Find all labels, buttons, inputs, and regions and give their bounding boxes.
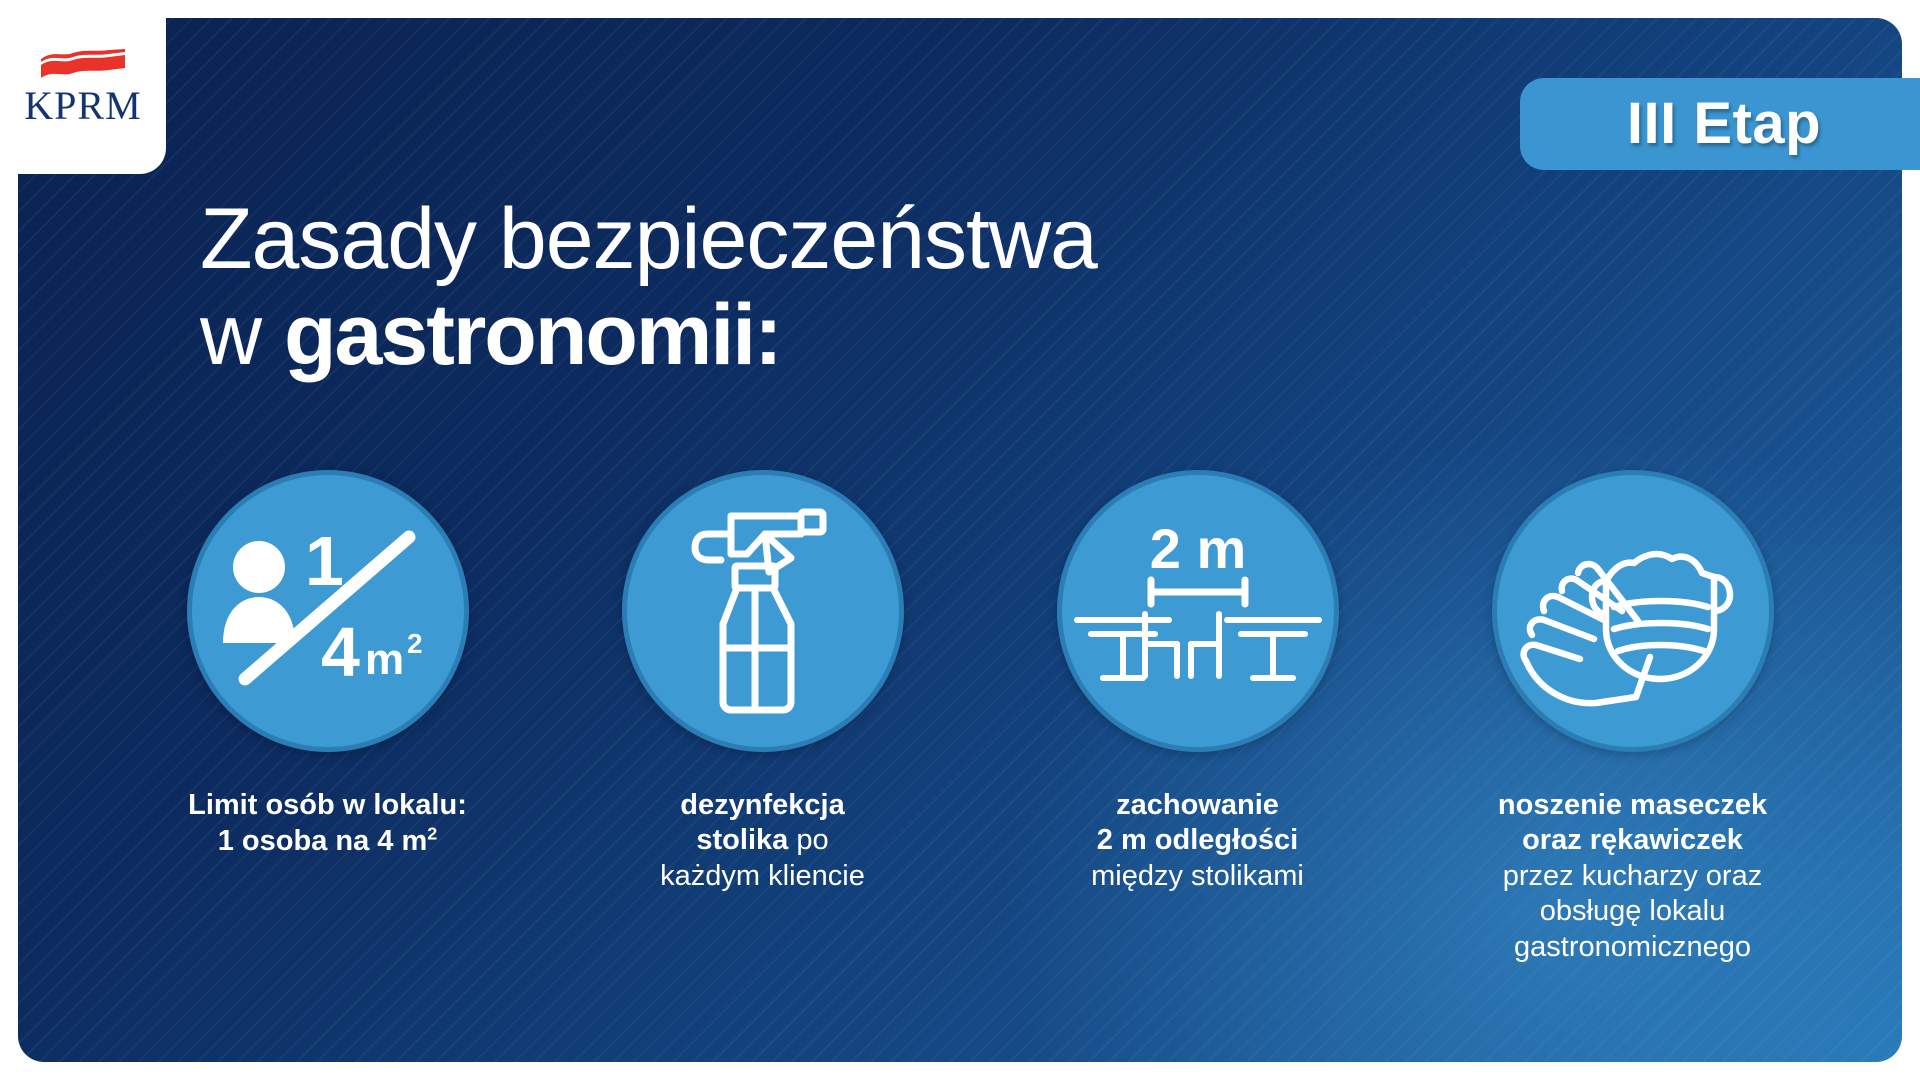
rule-caption: zachowanie 2 m odległości między stolika…: [1091, 788, 1304, 894]
caption-bold-line-2: 1 osoba na 4 m2: [218, 825, 438, 857]
title-line-2-light: w: [200, 287, 284, 383]
icon-circle: [1492, 470, 1774, 752]
title-line-1: Zasady bezpieczeństwa: [200, 196, 1600, 284]
caption-bold-line-1: zachowanie: [1116, 789, 1279, 821]
rule-caption: dezynfekcja stolika po każdym kliencie: [660, 788, 865, 894]
rule-item-occupancy: 1 4 m 2 Limit osób w lokalu: 1 osoba na …: [110, 470, 545, 859]
rule-caption: noszenie maseczek oraz rękawiczek przez …: [1498, 788, 1767, 965]
icon-circle: 2 m: [1057, 470, 1339, 752]
caption-bold-line-2: oraz rękawiczek: [1522, 824, 1743, 856]
rule-item-masks-gloves: noszenie maseczek oraz rękawiczek przez …: [1415, 470, 1850, 965]
stage-badge-label: III Etap: [1627, 95, 1821, 153]
tables-distance-icon: 2 m: [1073, 516, 1323, 706]
caption-light-line-2: między stolikami: [1091, 860, 1304, 892]
polish-flag-icon: [35, 48, 131, 82]
svg-text:1: 1: [305, 522, 344, 600]
icon-circle: [622, 470, 904, 752]
caption-bold-line-2: 2 m odległości: [1097, 824, 1298, 856]
kprm-logo-text: KPRM: [24, 86, 141, 126]
svg-text:2: 2: [407, 628, 423, 659]
page-title: Zasady bezpieczeństwa w gastronomii:: [200, 196, 1600, 379]
person-per-area-icon: 1 4 m 2: [213, 511, 443, 711]
title-line-2: w gastronomii:: [200, 292, 1600, 380]
caption-bold-line-2-text: 1 osoba na 4 m: [218, 825, 428, 857]
title-line-2-bold: gastronomii:: [284, 287, 781, 383]
rules-row: 1 4 m 2 Limit osób w lokalu: 1 osoba na …: [110, 470, 1850, 965]
caption-bold-line-1: noszenie maseczek: [1498, 789, 1767, 821]
spray-bottle-icon: [673, 506, 853, 716]
rule-item-disinfection: dezynfekcja stolika po każdym kliencie: [545, 470, 980, 894]
icon-circle: 1 4 m 2: [187, 470, 469, 752]
caption-light-line-1: przez kucharzy oraz: [1503, 860, 1763, 892]
caption-superscript: 2: [427, 823, 437, 843]
caption-bold-line-2: stolika: [696, 824, 788, 856]
rule-caption: Limit osób w lokalu: 1 osoba na 4 m2: [188, 788, 467, 859]
kprm-logo: KPRM: [0, 0, 166, 174]
svg-text:m: m: [365, 635, 404, 684]
distance-label: 2 m: [1149, 517, 1246, 580]
svg-text:4: 4: [321, 613, 360, 691]
rule-item-distance: 2 m: [980, 470, 1415, 894]
caption-bold-line-1: Limit osób w lokalu:: [188, 789, 467, 821]
mask-and-gloves-icon: [1518, 511, 1748, 711]
caption-light-line-2: obsługę lokalu: [1540, 895, 1725, 927]
caption-light-inline: po: [788, 824, 828, 856]
stage-badge: III Etap: [1520, 78, 1920, 170]
caption-light-line-3: gastronomicznego: [1514, 931, 1751, 963]
caption-light-line-2: każdym kliencie: [660, 860, 865, 892]
caption-bold-line-1: dezynfekcja: [680, 789, 844, 821]
infographic-root: KPRM III Etap Zasady bezpieczeństwa w ga…: [0, 0, 1920, 1080]
